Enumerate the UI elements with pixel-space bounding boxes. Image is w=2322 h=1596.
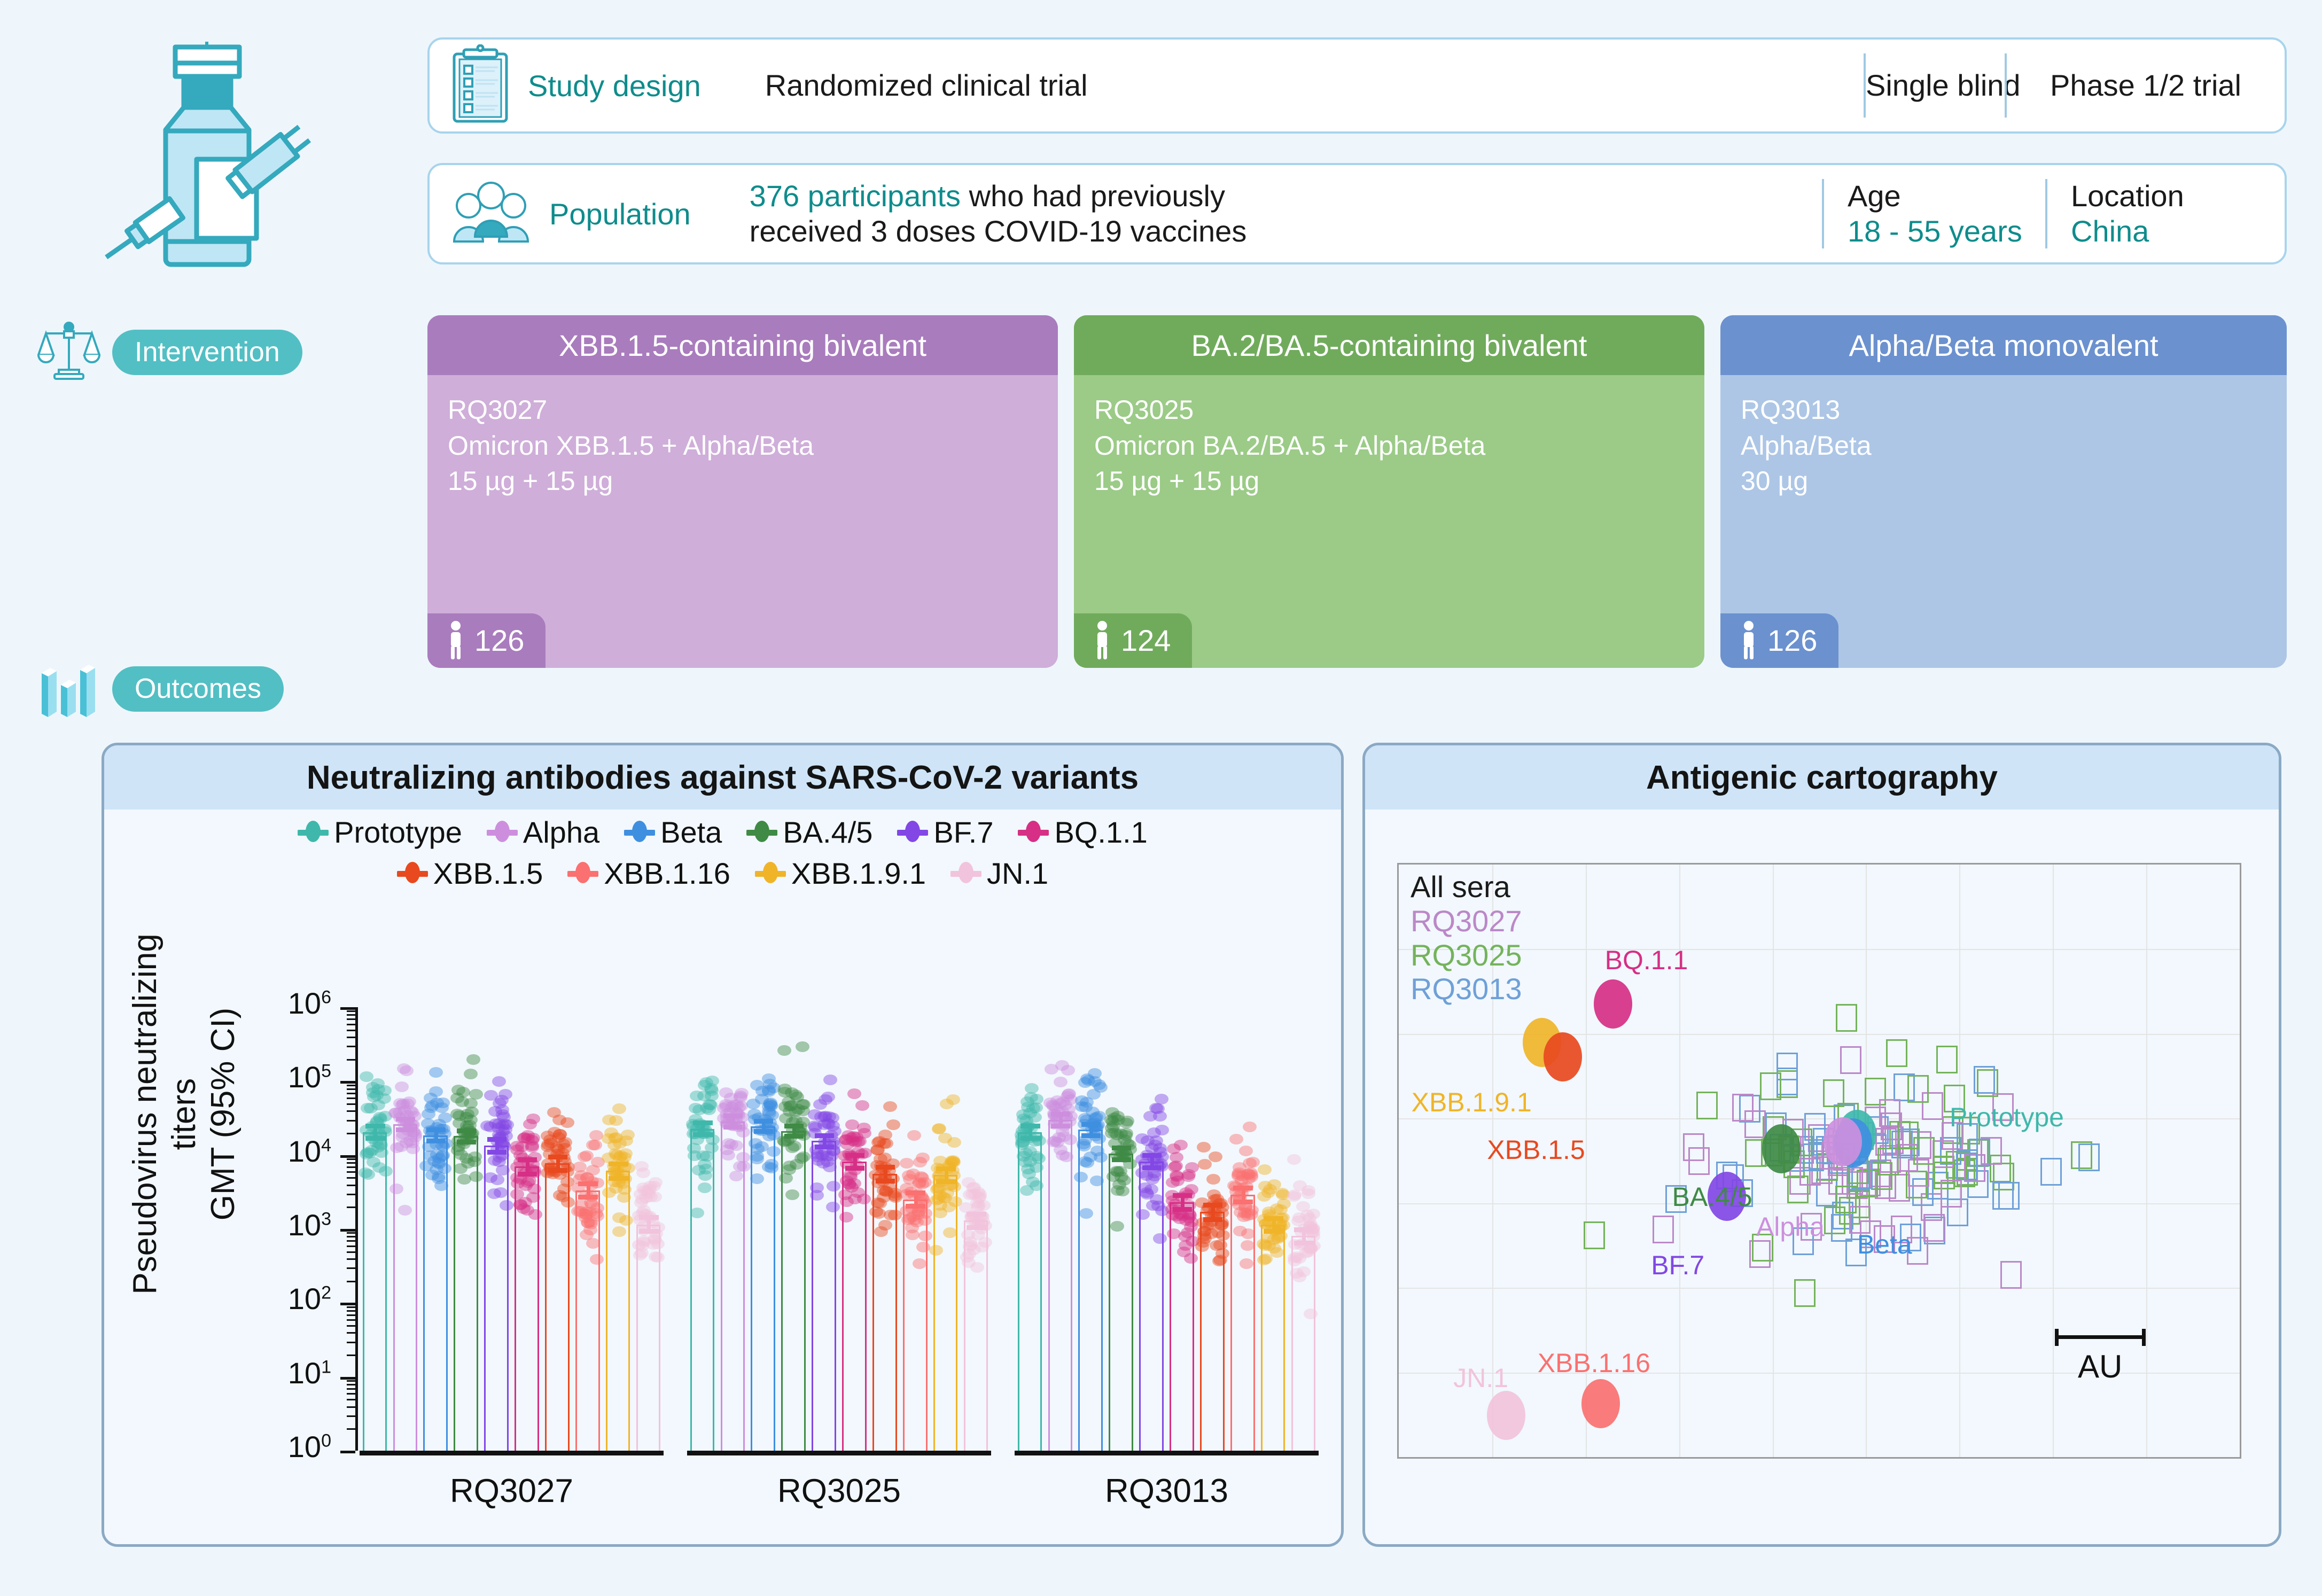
data-point	[429, 1086, 443, 1097]
data-point	[913, 1258, 926, 1269]
data-point	[879, 1138, 893, 1149]
participant-badge: 124	[1074, 613, 1192, 668]
data-point	[1257, 1255, 1271, 1265]
error-bar-cap-upper	[1020, 1124, 1040, 1128]
y-minor-tick	[347, 1185, 355, 1186]
data-point	[612, 1212, 626, 1223]
intervention-header: Alpha/Beta monovalent	[1849, 328, 2158, 363]
data-point	[1206, 1174, 1220, 1185]
serum-marker	[1836, 1004, 1857, 1032]
error-bar-cap-upper	[548, 1155, 567, 1159]
data-point	[946, 1156, 960, 1167]
antigen-label: Beta	[1857, 1229, 1912, 1260]
y-minor-tick	[347, 1388, 355, 1390]
data-point	[782, 1164, 796, 1175]
y-tick-label: 102	[251, 1281, 331, 1316]
error-bar-cap-upper	[693, 1120, 712, 1125]
y-tick-exponent: 5	[321, 1061, 331, 1081]
antigen-marker	[1487, 1391, 1525, 1440]
age-value: 18 - 55 years	[1848, 214, 2045, 249]
y-tick-mantissa: 10	[288, 1282, 321, 1315]
error-bar-cap-lower	[487, 1150, 507, 1155]
y-minor-tick	[347, 1314, 355, 1316]
participant-count: 126	[474, 623, 524, 658]
data-point	[612, 1226, 626, 1237]
error-bar-cap-lower	[578, 1195, 597, 1200]
data-point	[643, 1181, 657, 1192]
data-point	[633, 1250, 647, 1260]
error-bar-cap-upper	[906, 1190, 925, 1195]
data-point	[526, 1133, 540, 1143]
serum-marker	[1683, 1133, 1704, 1161]
y-minor-tick	[347, 1245, 355, 1247]
data-point	[1167, 1228, 1181, 1239]
serum-marker	[1886, 1039, 1907, 1067]
error-bar-cap-lower	[1203, 1217, 1222, 1222]
data-point	[750, 1154, 764, 1164]
participant-count: 376	[750, 179, 799, 213]
y-minor-tick	[347, 1110, 355, 1112]
location-key: Location	[2071, 178, 2285, 214]
error-bar-cap-upper	[578, 1181, 597, 1186]
data-point	[1198, 1159, 1212, 1170]
data-point	[613, 1138, 627, 1149]
error-bar-cap-lower	[1051, 1124, 1070, 1128]
bar	[1109, 1154, 1133, 1451]
error-bar-cap-upper	[1233, 1186, 1252, 1190]
serum-marker	[2000, 1261, 2022, 1289]
vaccine-vial-icon	[80, 21, 379, 299]
error-bar-cap-upper	[876, 1165, 895, 1170]
data-point	[432, 1153, 446, 1164]
intervention-dose: 15 µg + 15 µg	[448, 463, 1038, 499]
y-major-tick	[340, 1377, 355, 1380]
intervention-composition: Omicron BA.2/BA.5 + Alpha/Beta	[1094, 428, 1684, 464]
intervention-code: RQ3025	[1094, 392, 1684, 428]
data-point	[543, 1134, 557, 1145]
serum-marker	[1653, 1216, 1674, 1243]
y-tick-mantissa: 10	[288, 1208, 321, 1242]
data-point	[406, 1143, 420, 1154]
error-bar-cap-lower	[1233, 1200, 1252, 1204]
y-minor-tick	[347, 1010, 355, 1012]
antigen-label: JN.1	[1453, 1363, 1508, 1393]
y-minor-tick	[347, 1325, 355, 1327]
data-point	[796, 1041, 809, 1052]
person-icon	[446, 621, 466, 659]
data-point	[1050, 1095, 1064, 1106]
data-point	[590, 1254, 604, 1265]
error-bar-cap-lower	[396, 1127, 415, 1132]
person-icon	[1739, 621, 1759, 659]
y-tick-label: 101	[251, 1356, 331, 1390]
data-point	[1288, 1189, 1302, 1200]
error-bar-cap-upper	[1294, 1227, 1313, 1232]
data-point	[874, 1226, 888, 1237]
y-minor-tick	[347, 1024, 355, 1025]
data-point	[375, 1147, 388, 1158]
data-point	[612, 1103, 626, 1114]
panel-title: Antigenic cartography	[1646, 759, 1998, 797]
error-bar-cap-upper	[426, 1127, 446, 1132]
error-bar-cap-lower	[518, 1172, 537, 1177]
data-point	[497, 1112, 511, 1123]
serum-marker	[1907, 1075, 1929, 1103]
data-point	[1239, 1146, 1253, 1156]
antigenic-cartography-panel: Antigenic cartography All seraRQ3027RQ30…	[1362, 743, 2281, 1547]
data-point	[450, 1109, 464, 1119]
data-point	[918, 1231, 932, 1241]
antigen-marker	[1824, 1117, 1862, 1166]
data-point	[721, 1150, 735, 1161]
y-tick-mantissa: 10	[288, 1134, 321, 1168]
y-tick-mantissa: 10	[288, 1060, 321, 1094]
data-point	[1290, 1251, 1304, 1262]
y-minor-tick	[347, 1384, 355, 1385]
data-point	[395, 1081, 409, 1092]
y-minor-tick	[347, 1037, 355, 1038]
y-tick-exponent: 4	[321, 1135, 331, 1155]
y-minor-tick	[347, 1319, 355, 1321]
intervention-header: BA.2/BA.5-containing bivalent	[1191, 328, 1587, 363]
serum-marker	[2078, 1143, 2100, 1171]
bar	[1048, 1120, 1073, 1451]
participant-badge: 126	[1720, 613, 1838, 668]
error-bar-cap-lower	[784, 1134, 804, 1139]
data-point	[827, 1181, 840, 1192]
data-point	[588, 1140, 602, 1150]
error-bar-cap-lower	[1020, 1136, 1040, 1141]
y-tick-exponent: 2	[321, 1283, 331, 1303]
balance-scales-icon	[37, 321, 100, 384]
data-point	[942, 1202, 956, 1212]
data-point	[558, 1143, 572, 1154]
data-point	[1147, 1127, 1161, 1138]
data-point	[1140, 1187, 1154, 1198]
error-bar-cap-lower	[1173, 1207, 1192, 1212]
error-bar-cap-upper	[845, 1153, 864, 1158]
data-point	[824, 1151, 838, 1162]
data-point	[579, 1209, 593, 1219]
y-minor-tick	[347, 1240, 355, 1242]
data-point	[1016, 1109, 1030, 1120]
y-tick-exponent: 0	[321, 1430, 331, 1451]
au-scale-bar: AU	[2055, 1327, 2146, 1385]
cartography-legend-item: All sera	[1411, 870, 1522, 904]
data-point	[1111, 1166, 1125, 1177]
data-point	[492, 1076, 506, 1087]
error-bar-cap-lower	[548, 1168, 567, 1173]
cartography-legend-item: RQ3013	[1411, 972, 1522, 1006]
y-minor-tick	[347, 1236, 355, 1237]
rail-outcomes-label: Outcomes	[112, 666, 284, 712]
data-point	[1173, 1213, 1187, 1224]
data-point	[602, 1115, 616, 1125]
error-bar-cap-upper	[639, 1215, 658, 1220]
data-point	[419, 1161, 433, 1171]
y-minor-tick	[347, 1415, 355, 1417]
y-minor-tick	[347, 1399, 355, 1400]
y-minor-tick	[347, 1258, 355, 1260]
antigen-marker	[1544, 1032, 1582, 1081]
data-point	[764, 1100, 778, 1110]
data-point	[1111, 1115, 1125, 1125]
intervention-card-rq3027: XBB.1.5-containing bivalent RQ3027 Omicr…	[427, 315, 1058, 668]
people-group-icon	[451, 182, 531, 246]
data-point	[916, 1153, 930, 1163]
error-bar-cap-lower	[1264, 1229, 1283, 1234]
data-point	[1182, 1169, 1196, 1180]
antigen-label: Prototype	[1950, 1102, 2064, 1133]
error-bar-cap-upper	[967, 1212, 986, 1217]
error-bar-cap-upper	[1142, 1153, 1162, 1158]
intervention-composition: Omicron XBB.1.5 + Alpha/Beta	[448, 428, 1038, 464]
blinding-value: Single blind	[1866, 68, 2021, 102]
y-minor-tick	[347, 1393, 355, 1395]
data-point	[975, 1242, 989, 1252]
data-point	[1245, 1205, 1259, 1216]
bar-plot: 100101102103104105106RQ3027RQ3025RQ3013	[104, 745, 1341, 1544]
error-bar-cap-lower	[426, 1139, 446, 1143]
serum-marker	[1760, 1072, 1781, 1100]
x-group-label: RQ3027	[360, 1472, 664, 1510]
data-point	[468, 1151, 482, 1162]
error-bar-cap-upper	[365, 1124, 385, 1128]
population-key: Population	[549, 197, 691, 231]
y-tick-label: 103	[251, 1208, 331, 1242]
data-point	[1023, 1156, 1037, 1167]
data-point	[1148, 1171, 1162, 1181]
error-bar-cap-upper	[1173, 1193, 1192, 1198]
data-point	[1079, 1208, 1093, 1219]
au-bar-line	[2055, 1327, 2146, 1348]
error-bar-cap-upper	[518, 1157, 537, 1162]
rail-outcomes: Outcomes	[37, 657, 284, 720]
data-point	[1242, 1173, 1256, 1184]
data-point	[690, 1091, 704, 1101]
y-minor-tick	[347, 1103, 355, 1105]
data-point	[430, 1097, 444, 1108]
data-point	[556, 1192, 570, 1202]
data-point	[907, 1130, 921, 1141]
data-point	[1114, 1128, 1128, 1139]
intervention-header: XBB.1.5-containing bivalent	[559, 328, 926, 363]
data-point	[586, 1238, 600, 1249]
data-point	[639, 1193, 653, 1203]
antigen-label: XBB.1.5	[1487, 1134, 1585, 1165]
antigen-label: BQ.1.1	[1605, 945, 1688, 976]
data-point	[797, 1099, 811, 1110]
y-minor-tick	[347, 1354, 355, 1356]
data-point	[494, 1187, 508, 1198]
data-point	[932, 1123, 946, 1134]
error-bar-cap-upper	[754, 1119, 773, 1124]
y-tick-label: 105	[251, 1060, 331, 1094]
location-value: China	[2071, 214, 2285, 249]
y-minor-tick	[347, 1085, 355, 1086]
y-minor-tick	[347, 1018, 355, 1020]
y-tick-mantissa: 10	[288, 1356, 321, 1390]
error-bar-cap-lower	[639, 1229, 658, 1234]
data-point	[767, 1146, 781, 1157]
person-icon	[1092, 621, 1112, 659]
data-point	[1078, 1077, 1092, 1088]
error-bar-cap-lower	[967, 1225, 986, 1230]
data-point	[857, 1123, 871, 1133]
serum-marker	[1881, 1112, 1902, 1140]
blinding-cell: Single blind	[1866, 68, 2005, 103]
data-point	[1212, 1256, 1226, 1266]
population-desc-line1: who had previously	[961, 179, 1225, 213]
antigen-label: BA.4/5	[1672, 1181, 1752, 1212]
serum-marker	[1824, 1206, 1845, 1234]
grid-line-horizontal	[1399, 949, 2240, 950]
y-minor-tick	[347, 1232, 355, 1234]
data-point	[842, 1179, 856, 1189]
error-bar-cap-upper	[609, 1162, 628, 1166]
data-point	[705, 1091, 719, 1101]
error-bar-cap-upper	[723, 1114, 743, 1118]
y-major-tick	[340, 1081, 355, 1084]
bar	[393, 1124, 418, 1451]
data-point	[379, 1166, 393, 1177]
data-point	[946, 1094, 960, 1105]
data-point	[698, 1170, 712, 1181]
y-tick-mantissa: 10	[288, 986, 321, 1020]
y-tick-label: 104	[251, 1134, 331, 1169]
intervention-card-rq3013: Alpha/Beta monovalent RQ3013 Alpha/Beta …	[1720, 315, 2287, 668]
location-cell: Location China	[2047, 165, 2285, 262]
data-point	[826, 1202, 840, 1212]
data-point	[1029, 1102, 1043, 1113]
data-point	[1258, 1240, 1272, 1251]
y-minor-tick	[347, 1281, 355, 1282]
data-point	[840, 1196, 854, 1207]
intervention-card-rq3025: BA.2/BA.5-containing bivalent RQ3025 Omi…	[1074, 315, 1704, 668]
y-tick-label: 106	[251, 986, 331, 1021]
data-point	[810, 1182, 824, 1193]
data-point	[1246, 1157, 1260, 1167]
error-bar-cap-upper	[1203, 1203, 1222, 1208]
error-bar-cap-upper	[487, 1137, 507, 1142]
serum-marker	[1992, 1182, 2014, 1210]
x-axis-segment	[1015, 1451, 1319, 1455]
participant-count: 126	[1767, 623, 1817, 658]
data-point	[1207, 1189, 1221, 1200]
y-minor-tick	[347, 1342, 355, 1343]
data-point	[500, 1200, 513, 1211]
data-point	[496, 1165, 510, 1175]
data-point	[1241, 1228, 1255, 1239]
y-minor-tick	[347, 1406, 355, 1408]
clipboard-checklist-icon	[451, 44, 510, 127]
y-minor-tick	[347, 1306, 355, 1308]
data-point	[785, 1189, 799, 1200]
study-design-card: Study design Randomized clinical trial S…	[427, 37, 2287, 134]
data-point	[1155, 1094, 1168, 1104]
grid-line-horizontal	[1399, 1288, 2240, 1289]
data-point	[729, 1171, 743, 1181]
data-point	[1061, 1065, 1075, 1076]
data-point	[736, 1152, 750, 1163]
data-point	[651, 1252, 665, 1263]
data-point	[879, 1186, 893, 1196]
error-bar-cap-lower	[1112, 1157, 1131, 1162]
error-bar-cap-upper	[457, 1128, 476, 1133]
data-point	[1197, 1142, 1211, 1153]
serum-marker	[1941, 1180, 1962, 1208]
data-point	[573, 1162, 587, 1172]
data-point	[847, 1088, 861, 1099]
y-minor-tick	[347, 1133, 355, 1134]
data-point	[819, 1094, 832, 1105]
data-point	[619, 1148, 633, 1159]
data-point	[929, 1245, 943, 1256]
participant-badge: 126	[427, 613, 546, 668]
error-bar-cap-upper	[936, 1166, 955, 1171]
error-bar-cap-upper	[1264, 1216, 1283, 1221]
error-bar-cap-lower	[936, 1179, 955, 1184]
antigen-marker	[1581, 1379, 1620, 1428]
y-minor-tick	[347, 1014, 355, 1016]
y-minor-tick	[347, 1093, 355, 1094]
data-point	[1090, 1146, 1104, 1156]
data-point	[1229, 1134, 1243, 1145]
y-minor-tick	[347, 1097, 355, 1099]
serum-marker	[1696, 1092, 1718, 1119]
data-point	[698, 1182, 712, 1193]
data-point	[883, 1101, 897, 1112]
data-point	[360, 1071, 373, 1082]
error-bar-cap-lower	[815, 1145, 834, 1149]
cartography-legend-item: RQ3025	[1411, 938, 1522, 972]
intervention-dose: 30 µg	[1741, 463, 2266, 499]
error-bar-cap-lower	[723, 1125, 743, 1130]
y-tick-exponent: 3	[321, 1209, 331, 1229]
y-minor-tick	[347, 1251, 355, 1253]
y-minor-tick	[347, 1166, 355, 1168]
y-minor-tick	[347, 1059, 355, 1061]
data-point	[1087, 1089, 1101, 1100]
grid-line-vertical	[2146, 865, 2147, 1457]
data-point	[1243, 1122, 1257, 1132]
data-point	[826, 1120, 840, 1131]
data-point	[906, 1229, 920, 1240]
age-key: Age	[1848, 178, 2045, 214]
data-point	[765, 1163, 778, 1173]
data-point	[432, 1173, 446, 1184]
y-tick-label: 100	[251, 1429, 331, 1464]
error-bar-cap-upper	[815, 1133, 834, 1138]
bar	[363, 1132, 387, 1451]
data-point	[1054, 1077, 1068, 1087]
y-minor-tick	[347, 1088, 355, 1090]
y-minor-tick	[347, 1162, 355, 1164]
serum-marker	[1794, 1279, 1815, 1307]
y-minor-tick	[347, 1158, 355, 1160]
y-major-tick	[340, 1155, 355, 1158]
antigen-label: Alpha	[1756, 1211, 1825, 1242]
panel-header: Antigenic cartography	[1365, 745, 2279, 809]
data-point	[966, 1182, 980, 1193]
y-major-tick	[340, 1229, 355, 1232]
data-point	[918, 1177, 932, 1188]
cartography-plot: All seraRQ3027RQ3025RQ3013 AU BQ.1.1XBB.…	[1397, 863, 2241, 1459]
neutralizing-antibodies-panel: Neutralizing antibodies against SARS-CoV…	[102, 743, 1344, 1547]
cartography-legend-item: RQ3027	[1411, 904, 1522, 938]
data-point	[1241, 1240, 1254, 1251]
y-minor-tick	[347, 1206, 355, 1208]
